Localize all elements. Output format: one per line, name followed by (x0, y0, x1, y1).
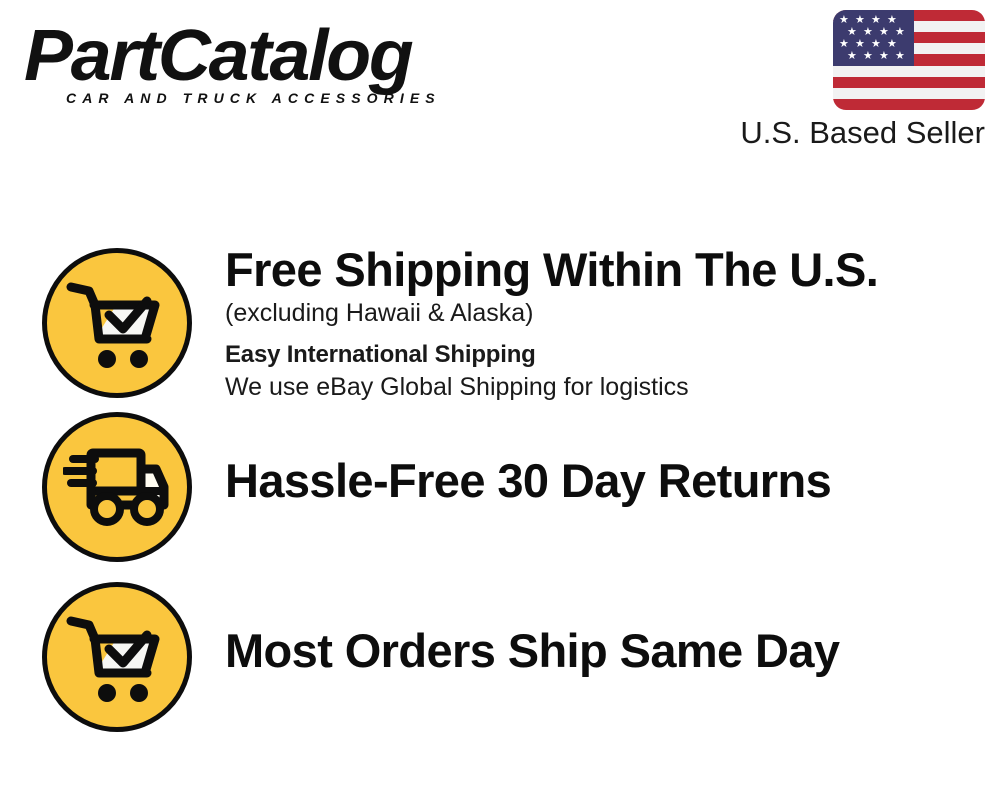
feature-headline: Most Orders Ship Same Day (225, 625, 1000, 677)
feature-headline: Hassle-Free 30 Day Returns (225, 455, 1000, 507)
feature-text: Most Orders Ship Same Day (225, 582, 1000, 677)
delivery-truck-icon (42, 412, 192, 562)
feature-text: Free Shipping Within The U.S. (excluding… (225, 240, 1000, 402)
feature-headline: Free Shipping Within The U.S. (225, 244, 1000, 296)
brand-logo: PartCatalog CAR AND TRUCK ACCESSORIES (24, 18, 494, 118)
feature-subtext: We use eBay Global Shipping for logistic… (225, 372, 1000, 402)
feature-row: Hassle-Free 30 Day Returns (0, 412, 1000, 582)
flag-stripe (833, 99, 985, 110)
feature-list: Free Shipping Within The U.S. (excluding… (0, 240, 1000, 752)
feature-subhead: Easy International Shipping (225, 340, 1000, 370)
feature-note: (excluding Hawaii & Alaska) (225, 298, 1000, 328)
us-flag-icon: ★ ★ ★ ★ ★ ★ ★ ★ ★ ★ ★ ★ ★ ★ ★ ★ (833, 10, 985, 110)
flag-stripe (833, 77, 985, 88)
flag-stripe (833, 66, 985, 77)
flag-canton: ★ ★ ★ ★ ★ ★ ★ ★ ★ ★ ★ ★ ★ ★ ★ ★ (833, 10, 914, 66)
feature-row: Free Shipping Within The U.S. (excluding… (0, 240, 1000, 412)
shopping-cart-check-icon (42, 582, 192, 732)
brand-wordmark: PartCatalog (24, 18, 503, 94)
us-based-seller-label: U.S. Based Seller (685, 115, 985, 151)
shopping-cart-check-icon (42, 248, 192, 398)
flag-stripe (833, 88, 985, 99)
feature-row: Most Orders Ship Same Day (0, 582, 1000, 752)
feature-text: Hassle-Free 30 Day Returns (225, 412, 1000, 507)
promo-banner: PartCatalog CAR AND TRUCK ACCESSORIES ★ … (0, 0, 1000, 800)
us-based-seller-block: ★ ★ ★ ★ ★ ★ ★ ★ ★ ★ ★ ★ ★ ★ ★ ★ U.S. Bas… (685, 10, 985, 151)
